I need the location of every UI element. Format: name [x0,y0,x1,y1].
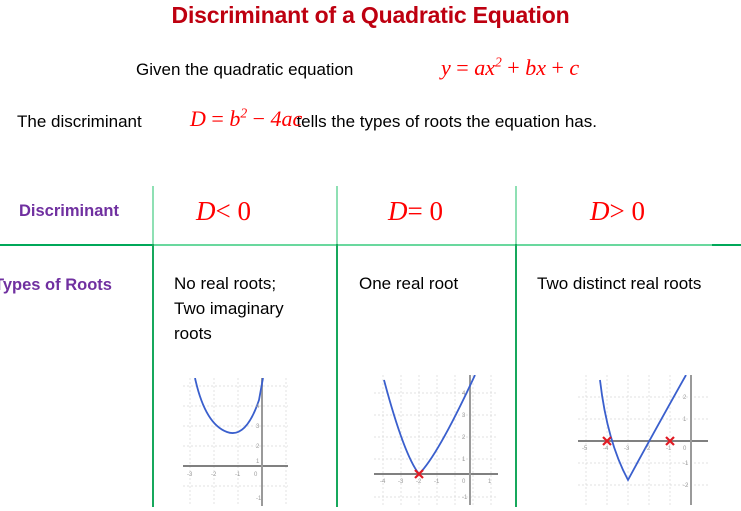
svg-text:-2: -2 [211,472,217,478]
formula-c: c [569,55,579,80]
graph-discriminant-positive: -5 -4 -3 -2 -1 0 2 1 -1 -2 [578,375,708,510]
graph-1-gridlines [183,378,288,506]
formula-minus: − [247,106,270,131]
graph-3-svg: -5 -4 -3 -2 -1 0 2 1 -1 -2 [578,375,708,505]
svg-text:3: 3 [256,424,260,430]
roots-description-zero: One real root [359,271,519,296]
header-D-2: D [388,196,408,226]
table-vertical-divider-2-highlight [336,186,338,244]
svg-text:1: 1 [462,457,466,463]
graph-discriminant-zero: -4 -3 -2 -1 0 1 4 3 2 1 -1 [374,375,498,510]
formula-bx: bx [525,55,546,80]
svg-text:-1: -1 [666,446,672,452]
table-horizontal-divider-highlight [152,244,712,246]
roots-description-positive: Two distinct real roots [537,271,741,296]
table-vertical-divider-3-highlight [515,186,517,244]
intro-line-2: The discriminant tells the types of root… [17,112,597,132]
svg-text:1: 1 [488,479,492,485]
svg-text:2: 2 [256,444,260,450]
header-zero-2: 0 [423,196,443,226]
header-symbol-3: > [610,196,625,226]
graph-2-gridlines [374,375,498,505]
formula-y: y [441,55,451,80]
svg-text:-2: -2 [416,479,422,485]
header-symbol-1: < [216,196,231,226]
intro-line-2-text-after: tells the types of roots the equation ha… [296,112,597,131]
svg-text:2: 2 [462,435,466,441]
header-D-3: D [590,196,610,226]
formula-plus-1: + [502,55,525,80]
formula-equals-2: = [206,106,229,131]
svg-text:-1: -1 [683,461,689,467]
formula-D: D [190,106,206,131]
intro-line-1: Given the quadratic equation [136,60,353,80]
formula-4ac: 4ac [271,106,303,131]
quadratic-equation-formula: y = ax2 + bx + c [441,55,579,81]
svg-text:-1: -1 [235,472,241,478]
svg-text:1: 1 [683,417,687,423]
header-zero-1: 0 [231,196,251,226]
page-title: Discriminant of a Quadratic Equation [0,2,741,29]
graph-2-svg: -4 -3 -2 -1 0 1 4 3 2 1 -1 [374,375,498,505]
svg-text:-3: -3 [187,472,193,478]
svg-text:4: 4 [256,404,260,410]
header-D-1: D [196,196,216,226]
svg-text:-2: -2 [645,446,651,452]
column-header-discriminant-positive: D> 0 [590,196,645,227]
svg-text:1: 1 [256,459,260,465]
table-vertical-divider-1-highlight [152,186,154,244]
roots-description-negative: No real roots; Two imaginary roots [174,271,334,346]
svg-text:0: 0 [462,479,466,485]
svg-text:3: 3 [462,413,466,419]
header-symbol-2: = [408,196,423,226]
svg-text:-1: -1 [434,479,440,485]
row-label-types-of-roots: Types of Roots [0,276,112,295]
svg-text:-5: -5 [582,446,588,452]
formula-b2: b2 [229,106,247,131]
svg-text:0: 0 [683,446,687,452]
svg-text:-4: -4 [603,446,609,452]
svg-text:-3: -3 [624,446,630,452]
intro-line-1-text: Given the quadratic equation [136,60,353,79]
svg-text:-4: -4 [380,479,386,485]
intro-line-2-text-before: The discriminant [17,112,142,131]
row-label-discriminant: Discriminant [19,202,119,221]
formula-plus-2: + [546,55,569,80]
graph-3-parabola [600,375,686,480]
svg-text:-2: -2 [683,483,689,489]
formula-equals: = [451,55,474,80]
graph-discriminant-negative: -3 -2 -1 0 4 3 2 1 -1 [183,378,288,511]
discriminant-formula: D = b2 − 4ac [190,106,302,132]
column-header-discriminant-negative: D< 0 [196,196,251,227]
svg-text:-3: -3 [398,479,404,485]
svg-text:-1: -1 [256,496,262,502]
svg-text:-1: -1 [462,495,468,501]
graph-1-svg: -3 -2 -1 0 4 3 2 1 -1 [183,378,288,506]
svg-text:0: 0 [254,472,258,478]
header-zero-3: 0 [625,196,645,226]
formula-ax2: ax2 [474,55,502,80]
svg-text:2: 2 [683,395,687,401]
graph-2-tick-labels: -4 -3 -2 -1 0 1 4 3 2 1 -1 [380,391,492,501]
column-header-discriminant-zero: D= 0 [388,196,443,227]
